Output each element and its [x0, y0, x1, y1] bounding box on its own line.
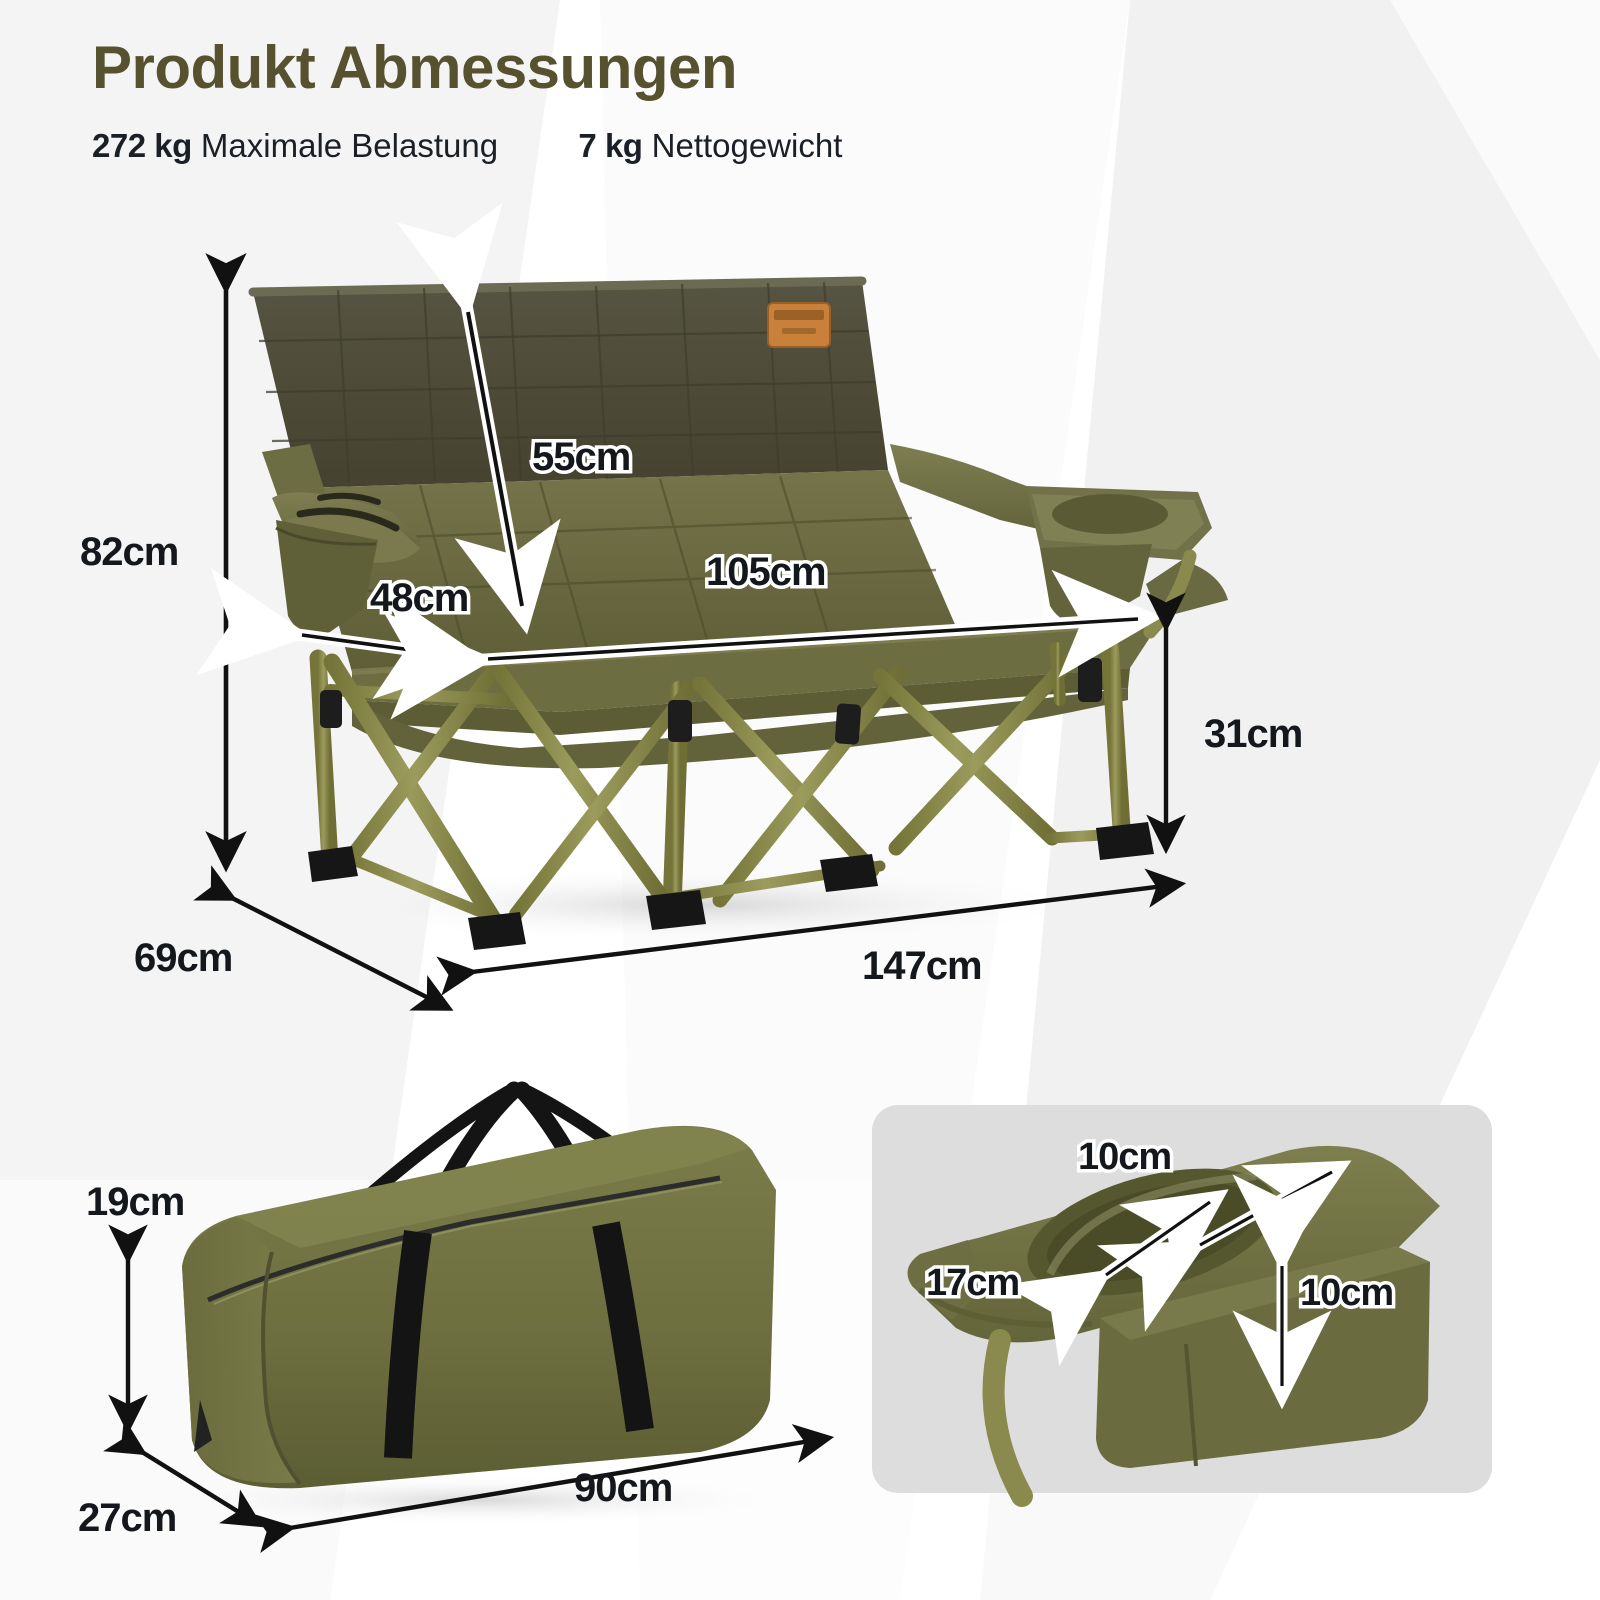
header: Produkt Abmessungen 272 kg Maximale Bela…: [92, 36, 842, 165]
dim-label-cup-depth: 10cm: [1300, 1272, 1393, 1315]
dim-label-seat-width: 105cm: [706, 550, 826, 595]
spec-summary: 272 kg Maximale Belastung 7 kg Nettogewi…: [92, 127, 842, 165]
dim-label-seat-depth: 48cm: [370, 576, 468, 621]
dim-label-backrest-height: 55cm: [532, 435, 630, 480]
max-load-value: 272 kg: [92, 127, 192, 164]
product-illustrations: [0, 0, 1600, 1600]
dim-label-overall-depth: 69cm: [134, 936, 232, 981]
dim-label-bag-height: 19cm: [86, 1180, 184, 1225]
dim-label-cup-width: 10cm: [1078, 1136, 1171, 1179]
dim-label-seat-height: 31cm: [1204, 712, 1302, 757]
brand-tag-icon: [768, 303, 830, 347]
max-load-label: Maximale Belastung: [201, 127, 498, 164]
dim-label-overall-height: 82cm: [80, 530, 178, 575]
net-weight-value: 7 kg: [578, 127, 642, 164]
dim-label-bag-length: 90cm: [574, 1466, 672, 1511]
dim-label-overall-width: 147cm: [862, 944, 982, 989]
carry-bag-illustration: [160, 1090, 800, 1526]
net-weight-label: Nettogewicht: [652, 127, 843, 164]
page-title: Produkt Abmessungen: [92, 36, 842, 99]
cup-holder-illustration: [908, 1145, 1441, 1496]
dim-label-bag-depth: 27cm: [78, 1496, 176, 1541]
dim-label-cup-length: 17cm: [926, 1262, 1019, 1305]
